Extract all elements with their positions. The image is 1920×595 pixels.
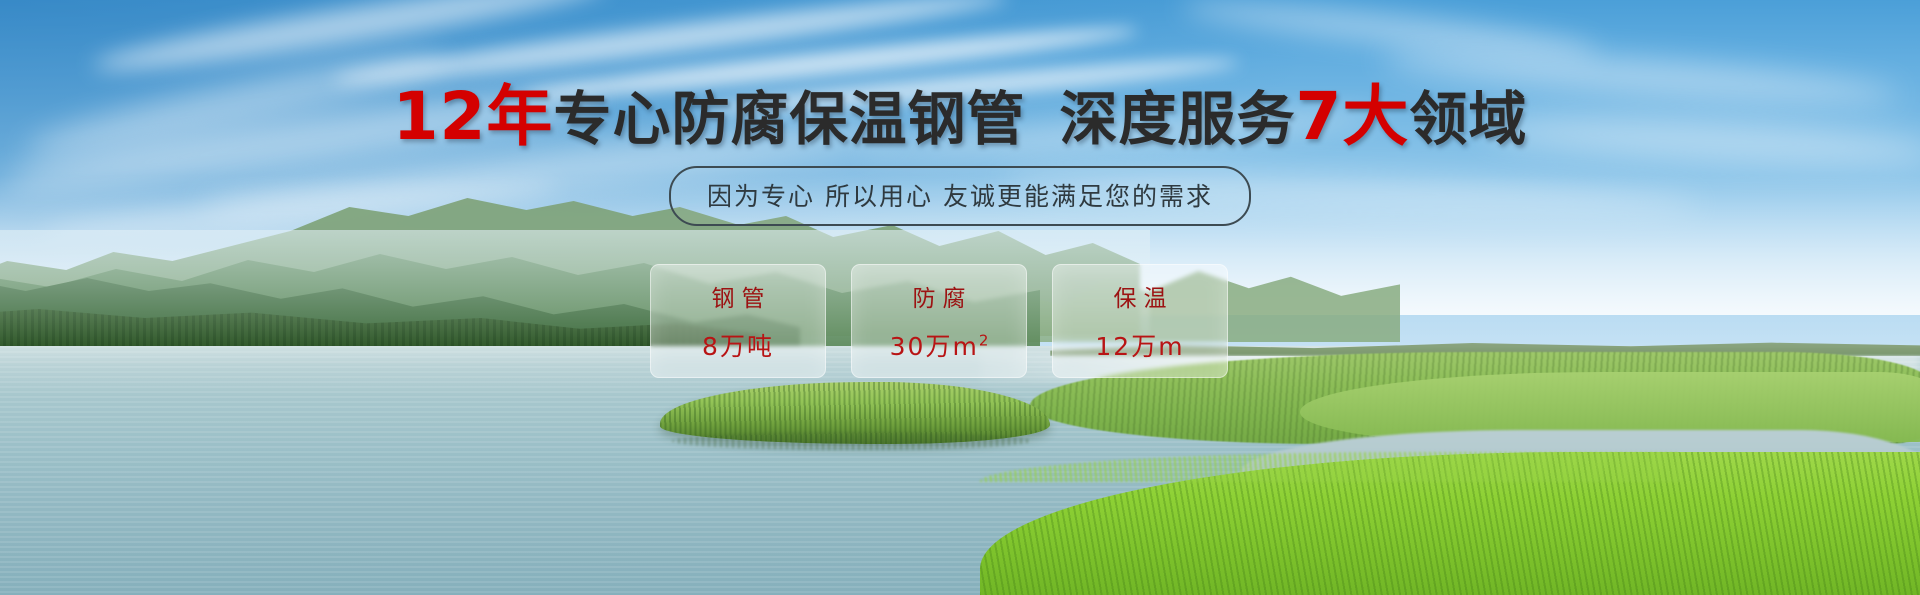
headline-service: 深度服务 <box>1059 85 1295 153</box>
stat-card-title: 保温 <box>1107 279 1174 313</box>
stat-card-value: 12万m <box>1095 327 1184 363</box>
stat-card-value: 8万吨 <box>702 327 774 363</box>
stat-card-value: 30万m2 <box>890 327 989 363</box>
stat-cards: 钢管 8万吨 防腐 30万m2 保温 12万m <box>650 264 1228 378</box>
stat-value-main: 30万m <box>890 332 979 361</box>
hero-banner: 12年专心防腐保温钢管深度服务7大领域 因为专心 所以用心 友诚更能满足您的需求… <box>0 0 1920 595</box>
subtitle-pill: 因为专心 所以用心 友诚更能满足您的需求 <box>669 166 1251 226</box>
headline-main: 专心防腐保温钢管 <box>553 85 1025 153</box>
headline-seven-areas: 7大 <box>1295 78 1409 155</box>
stat-card-title: 钢管 <box>705 279 772 313</box>
headline: 12年专心防腐保温钢管深度服务7大领域 <box>0 80 1920 154</box>
stat-card-insulation[interactable]: 保温 12万m <box>1052 264 1228 378</box>
stat-value-main: 12万m <box>1095 332 1184 361</box>
stat-card-anticorrosion[interactable]: 防腐 30万m2 <box>851 264 1027 378</box>
headline-years: 12年 <box>393 78 554 155</box>
island-reed-fringe <box>672 432 1032 450</box>
subtitle-container: 因为专心 所以用心 友诚更能满足您的需求 <box>0 166 1920 226</box>
headline-fields: 领域 <box>1409 85 1527 153</box>
stat-card-steel-pipe[interactable]: 钢管 8万吨 <box>650 264 826 378</box>
stat-card-title: 防腐 <box>906 279 973 313</box>
stat-value-superscript: 2 <box>979 332 989 350</box>
stat-value-main: 8万吨 <box>702 332 774 361</box>
